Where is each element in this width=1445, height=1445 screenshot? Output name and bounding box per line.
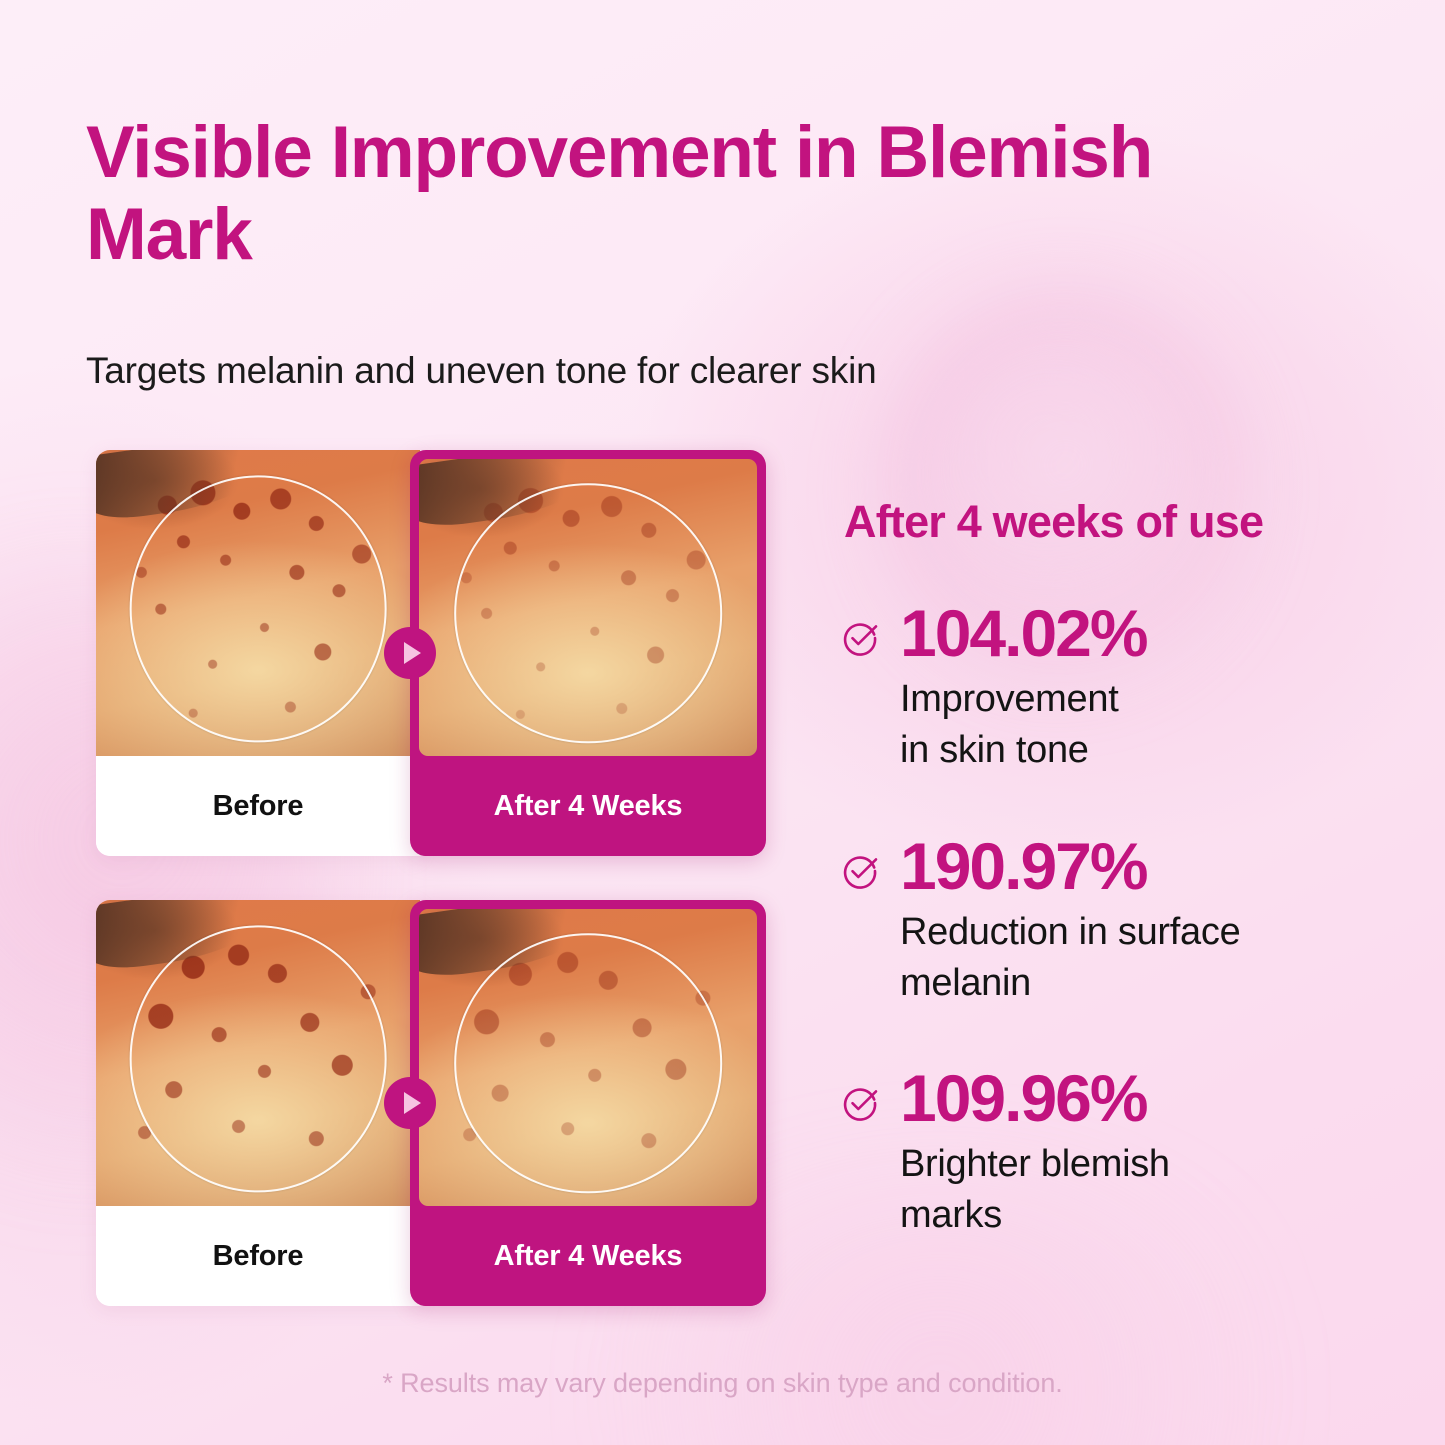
after-caption: After 4 Weeks xyxy=(419,756,757,856)
check-circle-icon xyxy=(840,851,880,891)
page-title: Visible Improvement in Blemish Mark xyxy=(86,112,1166,276)
comparison-card: Before After 4 Weeks xyxy=(96,450,766,856)
comparison-card: Before After 4 Weeks xyxy=(96,900,766,1306)
result-label: Improvement in skin tone xyxy=(900,674,1400,777)
before-pane: Before xyxy=(96,900,420,1306)
result-item: 190.97% Reduction in surface melanin xyxy=(840,833,1400,1010)
after-photo xyxy=(419,909,757,1206)
result-value: 190.97% xyxy=(900,833,1400,899)
analysis-circle-overlay xyxy=(454,934,722,1193)
before-caption: Before xyxy=(96,1206,420,1306)
before-pane: Before xyxy=(96,450,420,856)
result-label: Brighter blemish marks xyxy=(900,1139,1400,1242)
result-item: 109.96% Brighter blemish marks xyxy=(840,1065,1400,1242)
analysis-circle-overlay xyxy=(130,476,387,743)
analysis-circle-overlay xyxy=(130,926,387,1193)
after-pane: After 4 Weeks xyxy=(410,900,766,1306)
check-circle-icon xyxy=(840,1083,880,1123)
disclaimer-text: * Results may vary depending on skin typ… xyxy=(0,1368,1445,1399)
before-photo xyxy=(96,450,420,756)
results-panel: After 4 weeks of use 104.02% Improvement… xyxy=(840,496,1400,1242)
check-circle-icon xyxy=(840,618,880,658)
result-value: 109.96% xyxy=(900,1065,1400,1131)
results-title: After 4 weeks of use xyxy=(844,496,1400,548)
result-value: 104.02% xyxy=(900,600,1400,666)
after-photo xyxy=(419,459,757,756)
analysis-circle-overlay xyxy=(454,484,722,743)
promo-banner: Visible Improvement in Blemish Mark Targ… xyxy=(0,0,1445,1445)
result-item: 104.02% Improvement in skin tone xyxy=(840,600,1400,777)
page-subtitle: Targets melanin and uneven tone for clea… xyxy=(86,348,1226,394)
after-pane: After 4 Weeks xyxy=(410,450,766,856)
before-photo xyxy=(96,900,420,1206)
play-triangle-glyph xyxy=(404,642,421,664)
after-caption: After 4 Weeks xyxy=(419,1206,757,1306)
play-triangle-icon[interactable] xyxy=(384,627,436,679)
before-caption: Before xyxy=(96,756,420,856)
result-label: Reduction in surface melanin xyxy=(900,907,1400,1010)
play-triangle-icon[interactable] xyxy=(384,1077,436,1129)
play-triangle-glyph xyxy=(404,1092,421,1114)
